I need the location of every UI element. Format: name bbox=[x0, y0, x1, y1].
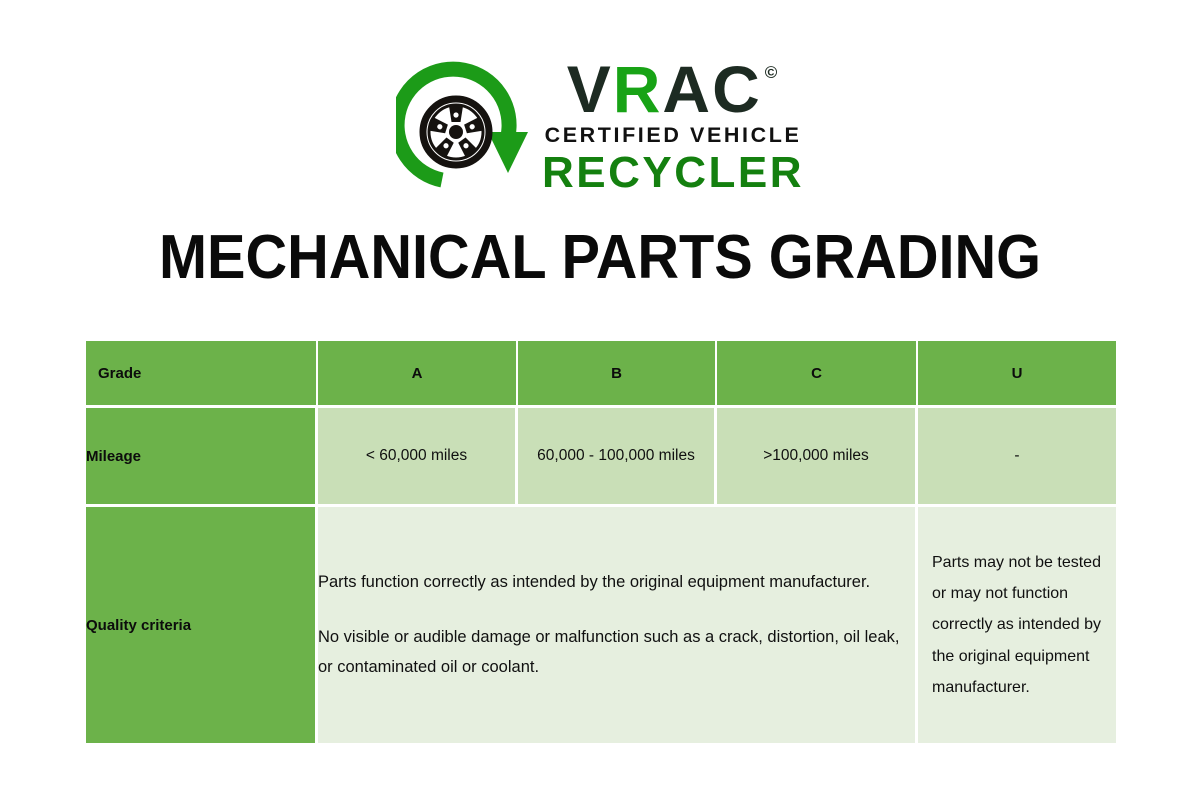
logo-recycler-word: RECYCLER bbox=[542, 150, 804, 196]
mileage-grade-u: - bbox=[918, 405, 1116, 504]
row-label-mileage: Mileage bbox=[86, 405, 318, 504]
header-grade-a: A bbox=[318, 341, 518, 405]
logo-letter-v: V bbox=[567, 58, 613, 121]
mileage-grade-b: 60,000 - 100,000 miles bbox=[518, 405, 717, 504]
table-header-row: Grade A B C U bbox=[86, 341, 1116, 405]
table-row-quality-criteria: Quality criteria Parts function correctl… bbox=[86, 504, 1116, 743]
copyright-icon: © bbox=[765, 64, 780, 81]
header-grade: Grade bbox=[86, 341, 318, 405]
logo-wordmark: VRAC© bbox=[567, 58, 780, 121]
brand-logo: VRAC© CERTIFIED VEHICLE RECYCLER bbox=[0, 46, 1200, 206]
quality-criteria-paragraph-1: Parts function correctly as intended by … bbox=[318, 568, 915, 597]
header-grade-c: C bbox=[717, 341, 918, 405]
header-grade-u: U bbox=[918, 341, 1116, 405]
header-grade-b: B bbox=[518, 341, 717, 405]
logo-inner: VRAC© CERTIFIED VEHICLE RECYCLER bbox=[396, 56, 804, 196]
recycling-wheel-icon bbox=[396, 58, 532, 194]
logo-wordmark-group: VRAC© CERTIFIED VEHICLE RECYCLER bbox=[542, 56, 804, 196]
quality-criteria-grade-u: Parts may not be tested or may not funct… bbox=[918, 504, 1116, 743]
mechanical-parts-grading-table: Grade A B C U Mileage < 60,000 miles 60,… bbox=[86, 341, 1116, 743]
row-label-quality-criteria: Quality criteria bbox=[86, 504, 318, 743]
mileage-grade-a: < 60,000 miles bbox=[318, 405, 518, 504]
mileage-grade-c: >100,000 miles bbox=[717, 405, 918, 504]
quality-criteria-abc: Parts function correctly as intended by … bbox=[318, 504, 918, 743]
page-title: MECHANICAL PARTS GRADING bbox=[42, 222, 1158, 293]
logo-subline: CERTIFIED VEHICLE bbox=[545, 123, 802, 148]
logo-letters-ac: AC bbox=[662, 58, 761, 121]
quality-criteria-paragraph-2: No visible or audible damage or malfunct… bbox=[318, 623, 915, 682]
table-row-mileage: Mileage < 60,000 miles 60,000 - 100,000 … bbox=[86, 405, 1116, 504]
logo-letter-r: R bbox=[613, 58, 663, 121]
